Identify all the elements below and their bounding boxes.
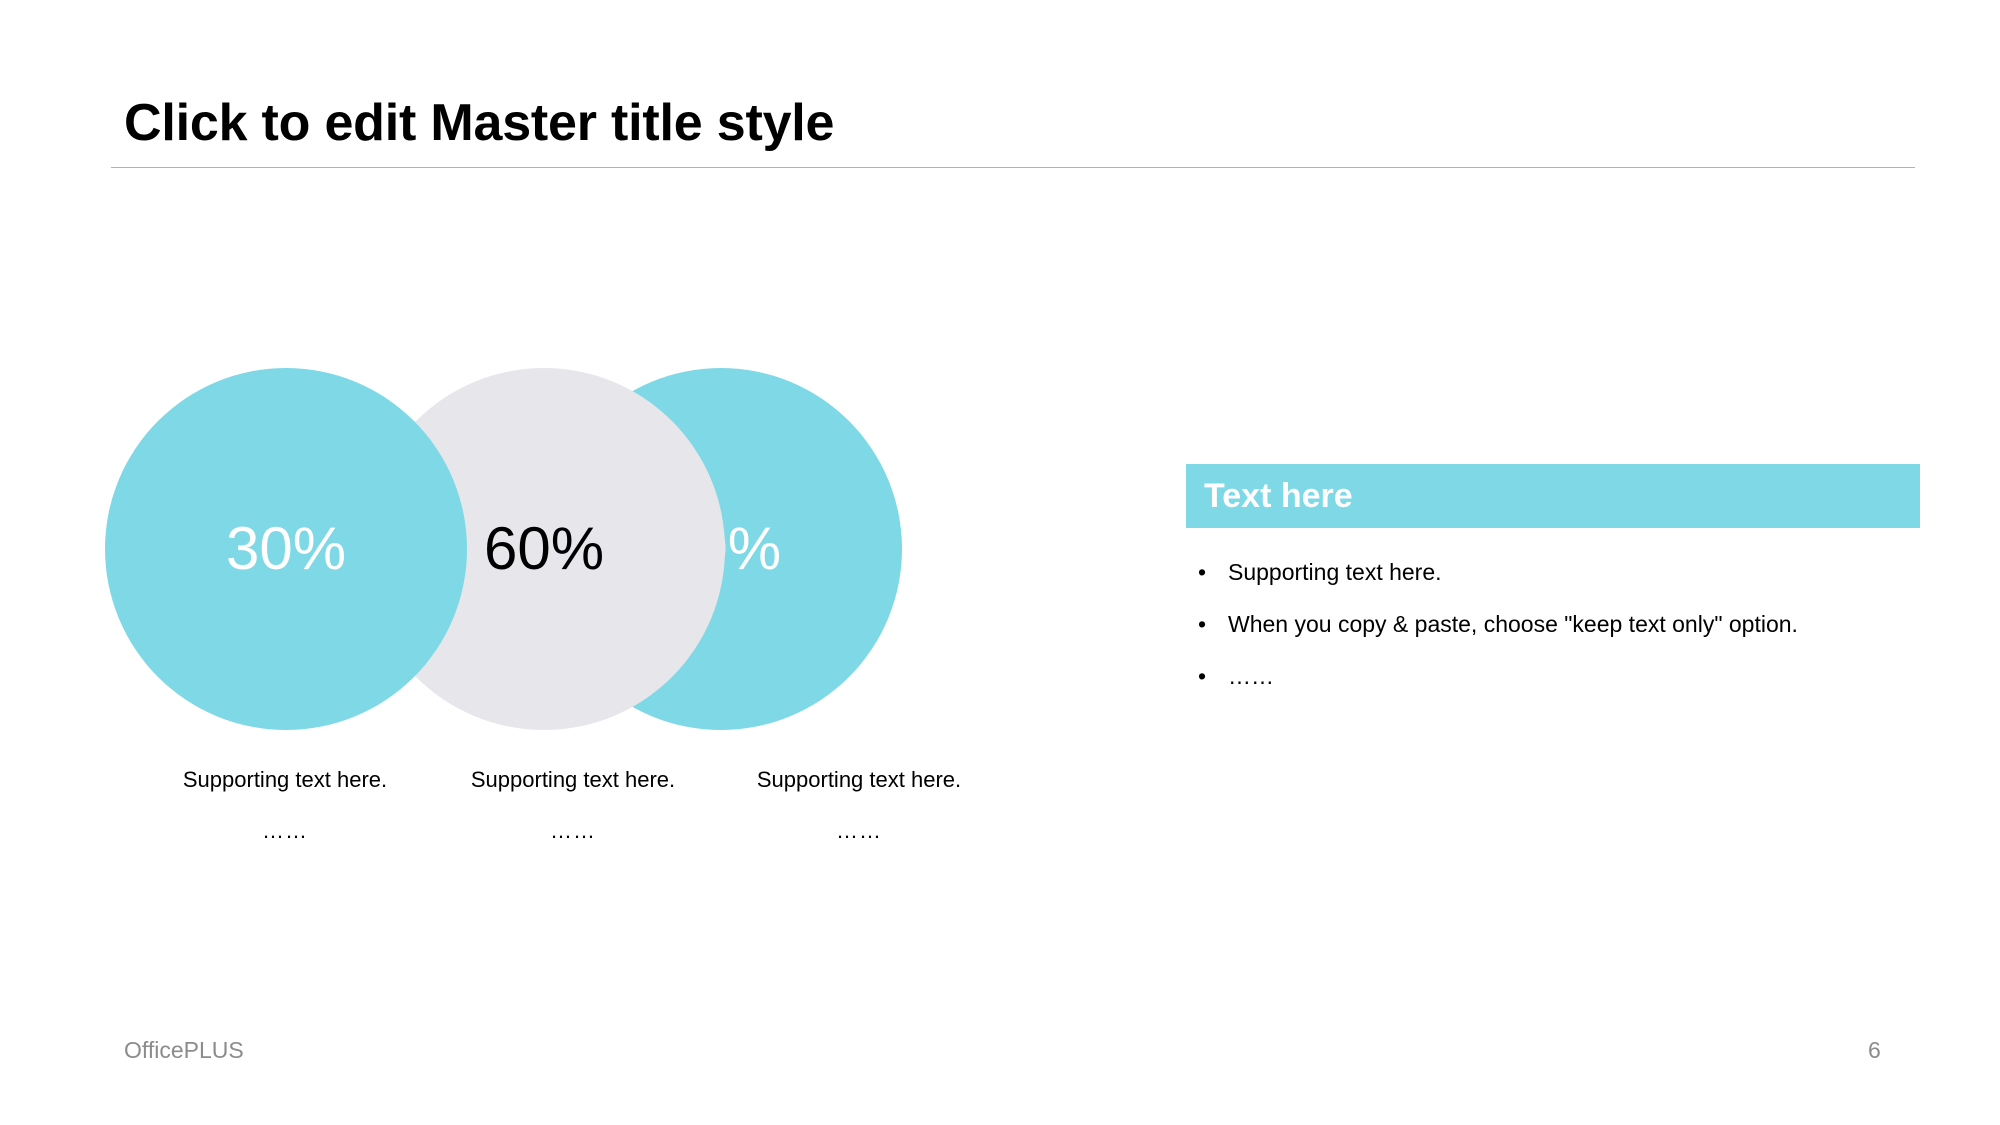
circle-1-value: 30%	[226, 519, 346, 579]
page-number: 6	[1868, 1037, 1881, 1064]
bullet-text-1: Supporting text here.	[1228, 556, 1442, 588]
panel-header-bar[interactable]: Text here	[1186, 464, 1920, 528]
list-item[interactable]: • When you copy & paste, choose "keep te…	[1186, 608, 1920, 640]
title-block: Click to edit Master title style	[124, 95, 1924, 151]
caption-3-line2: ……	[689, 816, 1029, 847]
bullet-text-3: ……	[1228, 660, 1274, 692]
text-panel: Text here • Supporting text here. • When…	[1186, 464, 1920, 713]
bullet-icon: •	[1198, 660, 1206, 692]
list-item[interactable]: • ……	[1186, 660, 1920, 692]
slide-canvas: Click to edit Master title style 20% 60%…	[0, 0, 2000, 1125]
panel-bullet-list: • Supporting text here. • When you copy …	[1186, 556, 1920, 693]
circle-cluster: 20% 60% 30%	[105, 368, 1105, 738]
list-item[interactable]: • Supporting text here.	[1186, 556, 1920, 588]
panel-title: Text here	[1204, 479, 1353, 513]
circle-2-value: 60%	[484, 519, 604, 579]
bullet-icon: •	[1198, 556, 1206, 588]
bullet-icon: •	[1198, 608, 1206, 640]
circle-1[interactable]: 30%	[105, 368, 467, 730]
footer-brand: OfficePLUS	[124, 1037, 244, 1064]
page-title[interactable]: Click to edit Master title style	[124, 95, 1924, 151]
caption-3-line1: Supporting text here.	[689, 765, 1029, 796]
bullet-text-2: When you copy & paste, choose "keep text…	[1228, 608, 1798, 640]
caption-3[interactable]: Supporting text here. ……	[689, 765, 1029, 847]
caption-row: Supporting text here. …… Supporting text…	[105, 765, 1025, 865]
title-divider	[111, 167, 1915, 168]
